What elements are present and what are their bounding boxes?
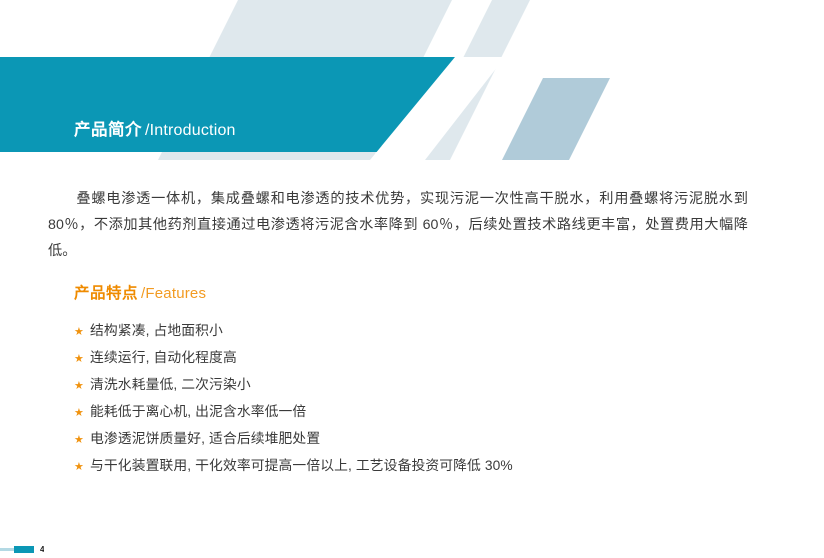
list-item: ★ 连续运行, 自动化程度高 <box>74 345 774 371</box>
feature-text: 电渗透泥饼质量好, 适合后续堆肥处置 <box>90 426 320 452</box>
features-heading-en: /Features <box>141 285 206 302</box>
list-item: ★ 结构紧凑, 占地面积小 <box>74 318 774 344</box>
star-icon: ★ <box>74 435 90 446</box>
list-item: ★ 清洗水耗量低, 二次污染小 <box>74 372 774 398</box>
feature-text: 能耗低于离心机, 出泥含水率低一倍 <box>90 399 306 425</box>
list-item: ★ 电渗透泥饼质量好, 适合后续堆肥处置 <box>74 426 774 452</box>
list-item: ★ 能耗低于离心机, 出泥含水率低一倍 <box>74 399 774 425</box>
intro-paragraph: 叠螺电渗透一体机，集成叠螺和电渗透的技术优势，实现污泥一次性高干脱水，利用叠螺将… <box>48 186 748 264</box>
page-number-marker: 4 <box>0 544 44 554</box>
star-icon: ★ <box>74 408 90 419</box>
header-banner: 产品简介/Introduction <box>0 0 824 160</box>
feature-list: ★ 结构紧凑, 占地面积小 ★ 连续运行, 自动化程度高 ★ 清洗水耗量低, 二… <box>74 318 774 479</box>
star-icon: ★ <box>74 381 90 392</box>
page-number: 4 <box>40 546 44 552</box>
light-blue-parallelogram-right-icon <box>463 78 610 160</box>
section-title: 产品简介/Introduction <box>74 122 236 139</box>
section-title-cn: 产品简介 <box>74 121 142 139</box>
features-section: 产品特点/Features ★ 结构紧凑, 占地面积小 ★ 连续运行, 自动化程… <box>74 286 774 480</box>
feature-text: 连续运行, 自动化程度高 <box>90 345 237 371</box>
star-icon: ★ <box>74 354 90 365</box>
feature-text: 结构紧凑, 占地面积小 <box>90 318 223 344</box>
marker-bar-light-icon <box>0 548 14 551</box>
marker-bar-dark-icon <box>14 546 34 553</box>
list-item: ★ 与干化装置联用, 干化效率可提高一倍以上, 工艺设备投资可降低 30% <box>74 453 774 479</box>
feature-text: 与干化装置联用, 干化效率可提高一倍以上, 工艺设备投资可降低 30% <box>90 453 513 479</box>
star-icon: ★ <box>74 462 90 473</box>
section-title-en: /Introduction <box>145 122 236 139</box>
features-heading: 产品特点/Features <box>74 286 774 302</box>
feature-text: 清洗水耗量低, 二次污染小 <box>90 372 251 398</box>
features-heading-cn: 产品特点 <box>74 285 138 302</box>
star-icon: ★ <box>74 327 90 338</box>
